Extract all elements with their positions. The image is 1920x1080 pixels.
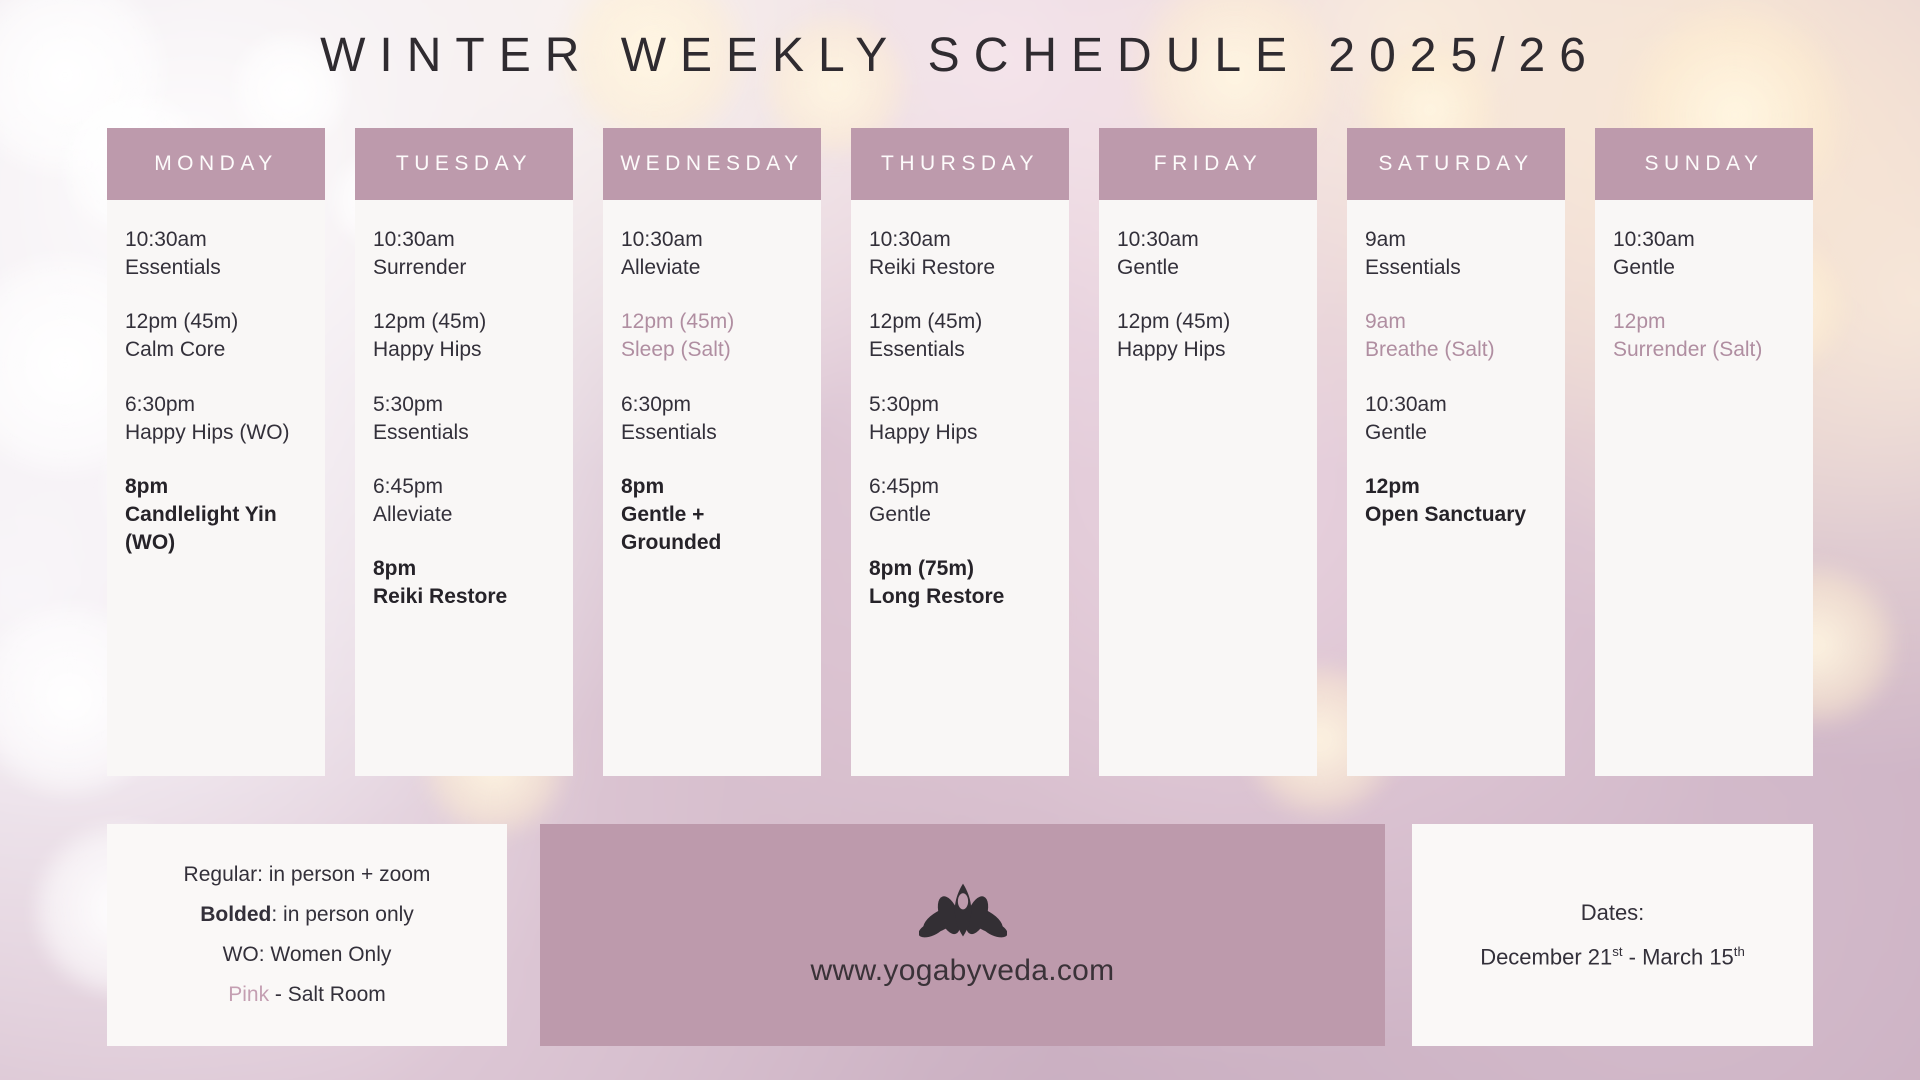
day-classes-wednesday: 10:30amAlleviate12pm (45m)Sleep (Salt)6:… [603,200,821,776]
class-name: Essentials [1365,254,1547,282]
day-header-monday: MONDAY [107,128,325,200]
dates-sup-th: th [1734,944,1745,959]
legend-line: WO: Women Only [223,942,392,968]
class-time: 12pm (45m) [1117,308,1299,336]
class-entry: 12pm (45m)Essentials [869,308,1051,364]
brand-panel: www.yogabyveda.com [540,824,1385,1046]
class-entry: 10:30amReiki Restore [869,226,1051,282]
class-entry: 12pm (45m)Happy Hips [373,308,555,364]
dates-range-middle: - March 15 [1623,944,1734,969]
legend-text: : in person only [271,903,413,926]
class-time: 12pm (45m) [125,308,307,336]
day-column-thursday: THURSDAY10:30amReiki Restore12pm (45m)Es… [851,128,1069,776]
day-classes-saturday: 9amEssentials9amBreathe (Salt)10:30amGen… [1347,200,1565,776]
day-column-saturday: SATURDAY9amEssentials9amBreathe (Salt)10… [1347,128,1565,776]
class-entry: 12pm (45m)Sleep (Salt) [621,308,803,364]
day-header-thursday: THURSDAY [851,128,1069,200]
day-header-sunday: SUNDAY [1595,128,1813,200]
legend-panel: Regular: in person + zoomBolded: in pers… [107,824,507,1046]
legend-text: - Salt Room [269,983,386,1006]
class-time: 12pm (45m) [621,308,803,336]
class-entry: 8pmGentle + Grounded [621,473,803,557]
legend-lead: Pink [228,983,269,1006]
day-column-wednesday: WEDNESDAY10:30amAlleviate12pm (45m)Sleep… [603,128,821,776]
class-entry: 10:30amGentle [1365,391,1547,447]
page-title: WINTER WEEKLY SCHEDULE 2025/26 [0,28,1920,83]
day-header-tuesday: TUESDAY [355,128,573,200]
class-time: 6:30pm [125,391,307,419]
class-name: Alleviate [373,501,555,529]
class-time: 8pm [125,473,307,501]
class-entry: 8pmReiki Restore [373,555,555,611]
class-name: Surrender (Salt) [1613,336,1795,364]
legend-line: Pink - Salt Room [228,982,386,1008]
class-time: 10:30am [125,226,307,254]
class-name: Gentle [1117,254,1299,282]
class-time: 6:45pm [869,473,1051,501]
dates-range-start: December 21 [1480,944,1612,969]
class-entry: 9amEssentials [1365,226,1547,282]
day-column-monday: MONDAY10:30amEssentials12pm (45m)Calm Co… [107,128,325,776]
class-name: Open Sanctuary [1365,501,1547,529]
dates-panel: Dates: December 21st - March 15th [1412,824,1813,1046]
class-time: 9am [1365,226,1547,254]
class-entry: 10:30amEssentials [125,226,307,282]
class-entry: 6:30pmHappy Hips (WO) [125,391,307,447]
class-time: 12pm (45m) [373,308,555,336]
class-time: 12pm (45m) [869,308,1051,336]
class-time: 8pm [373,555,555,583]
class-name: Sleep (Salt) [621,336,803,364]
class-name: Happy Hips [373,336,555,364]
class-name: Candlelight Yin (WO) [125,501,307,557]
class-name: Gentle + Grounded [621,501,803,557]
class-entry: 5:30pmHappy Hips [869,391,1051,447]
class-entry: 6:45pmAlleviate [373,473,555,529]
class-time: 10:30am [869,226,1051,254]
day-header-friday: FRIDAY [1099,128,1317,200]
day-column-friday: FRIDAY10:30amGentle12pm (45m)Happy Hips [1099,128,1317,776]
class-time: 12pm [1613,308,1795,336]
class-entry: 12pm (45m)Happy Hips [1117,308,1299,364]
class-time: 10:30am [1117,226,1299,254]
class-time: 10:30am [373,226,555,254]
website-url[interactable]: www.yogabyveda.com [811,954,1115,988]
class-time: 10:30am [1365,391,1547,419]
class-name: Essentials [621,419,803,447]
class-name: Happy Hips [869,419,1051,447]
day-classes-tuesday: 10:30amSurrender12pm (45m)Happy Hips5:30… [355,200,573,776]
weekly-schedule-grid: MONDAY10:30amEssentials12pm (45m)Calm Co… [107,128,1813,776]
class-name: Alleviate [621,254,803,282]
legend-lead: Bolded [200,903,271,926]
class-entry: 10:30amSurrender [373,226,555,282]
class-name: Reiki Restore [869,254,1051,282]
class-entry: 12pmSurrender (Salt) [1613,308,1795,364]
class-entry: 8pmCandlelight Yin (WO) [125,473,307,557]
dates-range: December 21st - March 15th [1480,944,1745,970]
class-time: 8pm (75m) [869,555,1051,583]
class-entry: 8pm (75m)Long Restore [869,555,1051,611]
day-classes-monday: 10:30amEssentials12pm (45m)Calm Core6:30… [107,200,325,776]
legend-line: Bolded: in person only [200,902,414,928]
day-classes-friday: 10:30amGentle12pm (45m)Happy Hips [1099,200,1317,776]
day-column-sunday: SUNDAY10:30amGentle12pmSurrender (Salt) [1595,128,1813,776]
class-time: 9am [1365,308,1547,336]
day-classes-thursday: 10:30amReiki Restore12pm (45m)Essentials… [851,200,1069,776]
class-time: 10:30am [621,226,803,254]
dates-label: Dates: [1581,900,1645,926]
legend-text: Regular: in person + zoom [184,863,431,886]
day-header-saturday: SATURDAY [1347,128,1565,200]
class-entry: 6:45pmGentle [869,473,1051,529]
day-column-tuesday: TUESDAY10:30amSurrender12pm (45m)Happy H… [355,128,573,776]
class-name: Breathe (Salt) [1365,336,1547,364]
class-name: Essentials [869,336,1051,364]
class-entry: 6:30pmEssentials [621,391,803,447]
class-name: Long Restore [869,583,1051,611]
class-entry: 10:30amGentle [1117,226,1299,282]
day-classes-sunday: 10:30amGentle12pmSurrender (Salt) [1595,200,1813,776]
class-name: Happy Hips [1117,336,1299,364]
class-name: Essentials [125,254,307,282]
legend-text: WO: Women Only [223,943,392,966]
lotus-icon [919,882,1007,944]
class-name: Gentle [1613,254,1795,282]
class-entry: 9amBreathe (Salt) [1365,308,1547,364]
class-name: Reiki Restore [373,583,555,611]
class-time: 8pm [621,473,803,501]
class-time: 5:30pm [373,391,555,419]
class-name: Surrender [373,254,555,282]
class-entry: 12pm (45m)Calm Core [125,308,307,364]
class-time: 6:45pm [373,473,555,501]
class-entry: 10:30amAlleviate [621,226,803,282]
class-time: 5:30pm [869,391,1051,419]
class-name: Essentials [373,419,555,447]
class-time: 12pm [1365,473,1547,501]
class-time: 10:30am [1613,226,1795,254]
class-name: Happy Hips (WO) [125,419,307,447]
legend-line: Regular: in person + zoom [184,862,431,888]
class-name: Calm Core [125,336,307,364]
class-name: Gentle [1365,419,1547,447]
day-header-wednesday: WEDNESDAY [603,128,821,200]
dates-sup-st: st [1612,944,1622,959]
class-time: 6:30pm [621,391,803,419]
class-name: Gentle [869,501,1051,529]
class-entry: 10:30amGentle [1613,226,1795,282]
class-entry: 12pmOpen Sanctuary [1365,473,1547,529]
class-entry: 5:30pmEssentials [373,391,555,447]
